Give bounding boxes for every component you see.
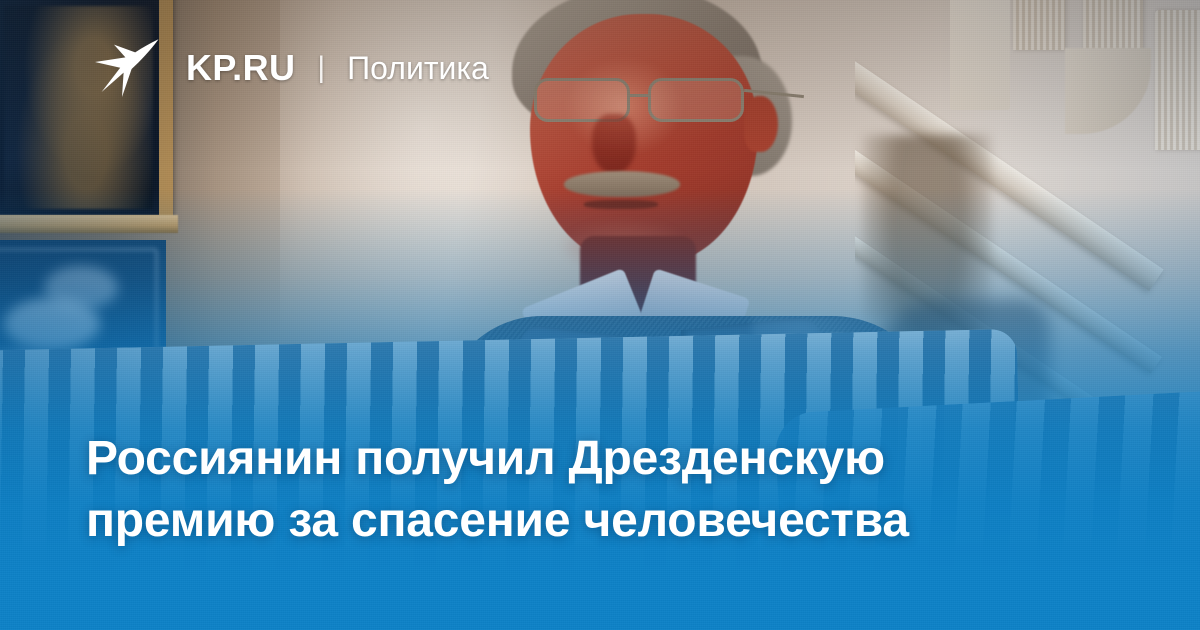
section-label[interactable]: Политика	[347, 52, 489, 84]
brand-bar: KP.RU | Политика	[92, 36, 489, 100]
social-share-card: KP.RU | Политика Россиянин получил Дрезд…	[0, 0, 1200, 630]
swallow-bird-icon	[92, 36, 164, 100]
brand-name[interactable]: KP.RU	[186, 50, 295, 86]
headline-line-1: Россиянин получил Дрезденскую	[86, 428, 1106, 490]
headline: Россиянин получил Дрезденскую премию за …	[86, 428, 1106, 553]
headline-line-2: премию за спасение человечества	[86, 490, 1106, 552]
brand-separator: |	[317, 53, 325, 83]
